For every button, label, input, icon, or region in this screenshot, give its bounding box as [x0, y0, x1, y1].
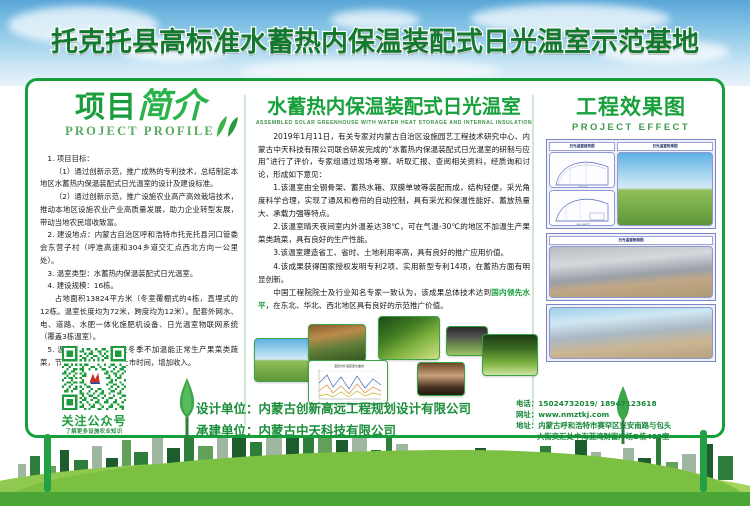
conclusion-pre: 中国工程院院士及行业知名专家一致认为，该成果总体技术达到 — [273, 288, 491, 297]
design-unit-line: 设计单位：内蒙古创新高远工程规划设计有限公司 — [196, 398, 471, 417]
content-frame: 项目简介 PROJECT PROFILE 1. 项目目标： （1）通过创新示范，… — [25, 78, 725, 438]
project-profile-heading: 项目简介 PROJECT PROFILE — [34, 89, 246, 151]
effect-panel-top: 日光温室结构图 结构剖面 — [546, 139, 716, 229]
profile-para-6: 4. 建设规模：16栋。 — [40, 280, 238, 293]
address-line: 地址：内蒙古呼和浩特市赛罕区兴安南路与包头 — [516, 420, 671, 431]
contact-block: 电话：15024732019/ 18947123618 网址：www.nmztk… — [516, 398, 671, 442]
tomato-crop-photo[interactable] — [378, 316, 440, 360]
heading-cn-part-b: 简介 — [137, 86, 205, 126]
profile-para-4: 2. 建设地点：内蒙古自治区呼和浩特市托克托县河口管委会东营子村（呼准高速和30… — [40, 229, 238, 267]
svg-text:结构剖面: 结构剖面 — [578, 185, 588, 188]
mid-conclusion: 中国工程院院士及行业知名专家一致认为，该成果总体技术达到国内领先水平，在东北、华… — [258, 287, 530, 312]
profile-para-1: 1. 项目目标： — [40, 153, 238, 166]
build-unit-value: 内蒙古中天科技有限公司 — [259, 423, 397, 438]
effect-panel-middle: 日光温室剖面图 — [546, 233, 716, 301]
middle-body-text: 2019年1月11日，有关专家对内蒙古自治区设施园艺工程技术研究中心、内蒙古中天… — [250, 126, 538, 312]
decorative-bar — [44, 434, 51, 492]
panel-caption-insulation: 日光温室剖面图 — [549, 236, 713, 245]
conclusion-post: ，在东北、华北、西北地区具有良好的示范推广价值。 — [266, 301, 448, 310]
page-title: 托克托县高标准水蓄热内保温装配式日光温室示范基地 — [0, 20, 750, 59]
phone-label: 电话： — [516, 399, 538, 408]
profile-para-7: 占地面积13824平方米（冬室覆棚式的4栋，直埋式的12栋。温室长度均为72米，… — [40, 293, 238, 344]
website-line[interactable]: 网址：www.nmztkj.com — [516, 409, 671, 420]
design-unit-value: 内蒙古创新高远工程规划设计有限公司 — [259, 401, 472, 416]
greenhouse-insulation-photo[interactable] — [549, 246, 713, 298]
project-profile-text: 1. 项目目标： （1）通过创新示范，推广成熟的专利技术，总结制定本地区水蓄热内… — [34, 153, 246, 369]
ground-strip — [0, 492, 750, 506]
website-value[interactable]: www.nmztkj.com — [538, 410, 609, 419]
profile-para-5: 3. 温室类型：水蓄热内保温装配式日光温室。 — [40, 268, 238, 281]
profile-para-2: （1）通过创新示范，推广成熟的专利技术，总结制定本地区水蓄热内保温装配式日光温室… — [40, 166, 238, 191]
footer: 设计单位：内蒙古创新高远工程规划设计有限公司 承建单位：内蒙古中天科技有限公司 … — [0, 396, 750, 440]
section-diagram-svg: 蓄热水箱布置 — [550, 191, 615, 226]
greenhouse-section-diagram[interactable]: 蓄热水箱布置 — [549, 190, 615, 226]
poster-root: 托克托县高标准水蓄热内保温装配式日光温室示范基地 — [0, 0, 750, 506]
address-line2: 大街交汇处中海蓝湾财富广场D栋402室 — [537, 432, 669, 441]
field-inspection-photo[interactable] — [308, 324, 366, 362]
panel-caption-render: 日光温室效果图 — [617, 142, 713, 151]
mid-para-3: 2.该温室晴天夜间室内外温差达38℃，可在气温-30℃的地区不加温生产果菜类蔬菜… — [258, 221, 530, 246]
phone-line: 电话：15024732019/ 18947123618 — [516, 398, 671, 409]
greenhouse-structure-diagram[interactable]: 结构剖面 — [549, 152, 615, 188]
structure-diagram-svg: 结构剖面 — [550, 153, 615, 188]
svg-text:蓄热水箱布置: 蓄热水箱布置 — [576, 223, 590, 227]
leaf-icon — [214, 115, 240, 139]
right-title-en: PROJECT EFFECT — [540, 122, 722, 133]
website-label: 网址： — [516, 410, 538, 419]
panel-caption-structure: 日光温室结构图 — [549, 142, 615, 151]
mid-para-5: 4.该成果获得国家授权发明专利2项、实用新型专利14项，在蓄热方面有明显创新。 — [258, 261, 530, 286]
mid-para-1: 2019年1月11日，有关专家对内蒙古自治区设施园艺工程技术研究中心、内蒙古中天… — [258, 131, 530, 181]
address-line1: 内蒙古呼和浩特市赛罕区兴安南路与包头 — [538, 421, 671, 430]
effect-panel-bottom — [546, 304, 716, 362]
profile-para-3: （2）通过创新示范，推广设施农业高产高效栽培技术，推动本地区设施农业产业高质量发… — [40, 191, 238, 229]
build-unit-line: 承建单位：内蒙古中天科技有限公司 — [196, 420, 471, 439]
heading-cn-part-a: 项目 — [75, 90, 137, 125]
address-label: 地址： — [516, 421, 538, 430]
mid-para-2: 1.该温室由全钢骨架、蓄热水箱、双膜单坡等装配而成，结构轻便，采光角度科学合理，… — [258, 182, 530, 220]
build-unit-label: 承建单位： — [196, 423, 259, 438]
right-column: 工程效果图 PROJECT EFFECT 日光温室结构图 — [540, 81, 722, 362]
greenhouse-render-photo[interactable] — [617, 152, 713, 226]
greenhouse-field-photo[interactable] — [549, 307, 713, 359]
design-unit-label: 设计单位： — [196, 401, 259, 416]
skyline-building — [718, 456, 733, 480]
middle-title-en: ASSEMBLED SOLAR GREENHOUSE WITH WATER HE… — [250, 120, 538, 126]
phone-value: 15024732019/ 18947123618 — [538, 399, 656, 408]
leafy-vegetable-rows-photo[interactable] — [482, 334, 538, 376]
left-column: 项目简介 PROJECT PROFILE 1. 项目目标： （1）通过创新示范，… — [34, 81, 246, 369]
mid-para-4: 3.该温室建造省工、省时、土地利用率高，具有良好的推广应用价值。 — [258, 247, 530, 260]
svg-text:温室内外温度变化曲线: 温室内外温度变化曲线 — [334, 363, 364, 368]
middle-column: 水蓄热内保温装配式日光温室 ASSEMBLED SOLAR GREENHOUSE… — [250, 81, 538, 410]
interview-photo[interactable] — [417, 362, 465, 396]
middle-title-cn: 水蓄热内保温装配式日光温室 — [250, 90, 538, 119]
right-title-cn: 工程效果图 — [540, 91, 722, 121]
address-line-2-wrap: 大街交汇处中海蓝湾财富广场D栋402室 — [516, 431, 671, 442]
